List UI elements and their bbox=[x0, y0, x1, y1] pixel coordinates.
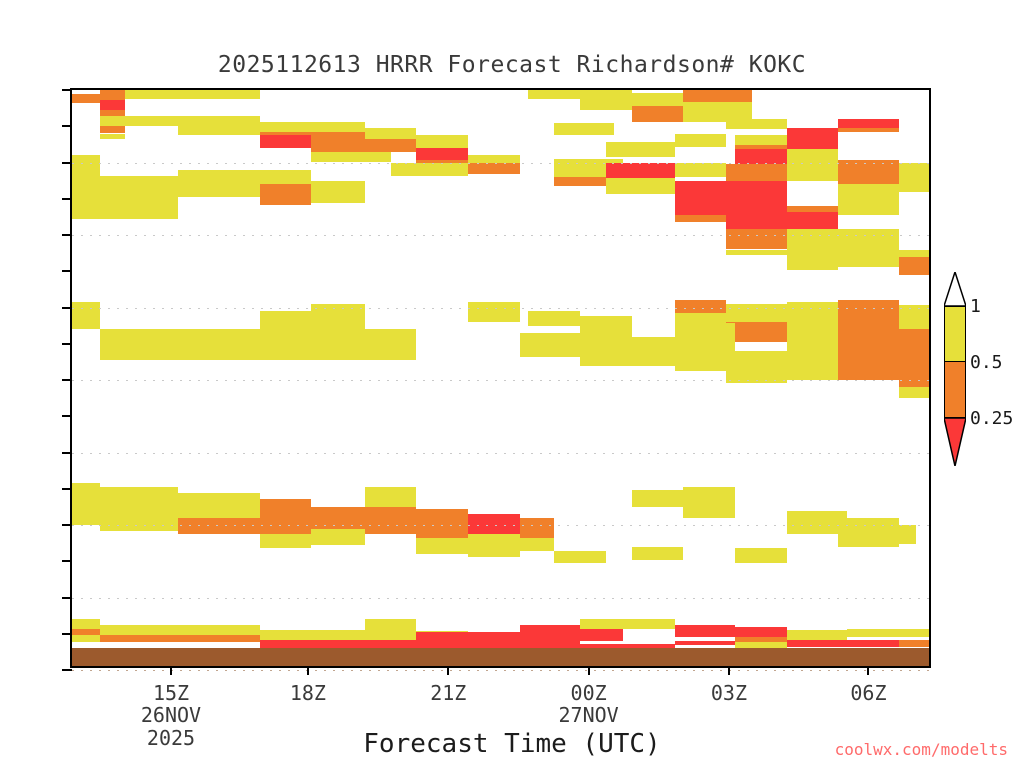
heatmap-cell bbox=[468, 155, 520, 162]
heatmap-cell bbox=[528, 90, 580, 99]
heatmap-cell bbox=[787, 128, 839, 150]
chart-page: 2025112613 HRRR Forecast Richardson# KOK… bbox=[0, 0, 1024, 768]
heatmap-cell bbox=[468, 302, 520, 322]
heatmap-cell bbox=[100, 635, 259, 642]
heatmap-cell bbox=[726, 322, 786, 342]
heatmap-cell bbox=[606, 163, 675, 179]
x-tick-time: 06Z bbox=[788, 682, 948, 704]
colorbar-tick-label: 1 bbox=[970, 296, 981, 317]
heatmap-cell bbox=[735, 548, 787, 563]
heatmap-cell bbox=[520, 625, 580, 650]
heatmap-cell bbox=[899, 640, 929, 647]
heatmap-cell bbox=[675, 134, 727, 147]
heatmap-cell bbox=[72, 635, 100, 642]
heatmap-cell bbox=[580, 316, 632, 333]
plot-area: 2002503003504004505005506006507007508008… bbox=[70, 88, 931, 668]
heatmap-cell bbox=[838, 128, 898, 132]
x-tick-time: 21Z bbox=[368, 682, 528, 704]
x-axis-tick bbox=[447, 666, 449, 675]
heatmap-cell bbox=[632, 547, 684, 560]
y-axis-tick bbox=[62, 560, 72, 562]
heatmap-cell bbox=[416, 148, 468, 160]
heatmap-cell bbox=[260, 534, 312, 549]
x-axis-tick bbox=[728, 666, 730, 675]
heatmap-cell bbox=[675, 351, 787, 371]
heatmap-cell bbox=[72, 302, 100, 330]
heatmap-cell bbox=[787, 302, 839, 321]
heatmap-cell bbox=[100, 197, 177, 219]
heatmap-cell bbox=[416, 509, 468, 538]
heatmap-cell bbox=[365, 619, 417, 631]
gridline bbox=[72, 308, 929, 309]
heatmap-cell bbox=[72, 155, 100, 219]
heatmap-cell bbox=[632, 93, 684, 102]
y-axis-tick bbox=[62, 524, 72, 526]
y-axis-tick bbox=[62, 234, 72, 236]
heatmap-cell bbox=[100, 90, 124, 100]
heatmap-cell bbox=[787, 630, 847, 639]
x-axis-tick bbox=[588, 666, 590, 675]
heatmap-cell bbox=[726, 250, 786, 256]
gridline bbox=[72, 453, 929, 454]
heatmap-cell bbox=[787, 165, 839, 181]
chart-title: 2025112613 HRRR Forecast Richardson# KOK… bbox=[0, 52, 1024, 78]
heatmap-cell bbox=[735, 627, 787, 638]
colorbar-arrow-bottom bbox=[944, 418, 966, 466]
heatmap-cell bbox=[787, 255, 839, 270]
heatmap-cell bbox=[580, 629, 623, 641]
gridline bbox=[72, 163, 929, 164]
y-axis-tick bbox=[62, 379, 72, 381]
heatmap-cell bbox=[580, 337, 675, 366]
colorbar-legend: 10.50.25 bbox=[944, 306, 966, 474]
y-axis-tick bbox=[62, 343, 72, 345]
heatmap-cell bbox=[787, 229, 899, 255]
heatmap-cell bbox=[416, 538, 468, 554]
gridline bbox=[72, 598, 929, 599]
heatmap-cell bbox=[726, 215, 786, 230]
heatmap-cell bbox=[100, 126, 124, 134]
heatmap-cell bbox=[580, 90, 632, 110]
heatmap-cell bbox=[391, 163, 468, 176]
heatmap-cell bbox=[675, 215, 727, 222]
heatmap-cell bbox=[520, 518, 554, 538]
y-axis-tick bbox=[62, 125, 72, 127]
heatmap-cell bbox=[260, 311, 365, 331]
heatmap-cell bbox=[683, 90, 752, 102]
heatmap-cell bbox=[606, 142, 675, 157]
heatmap-cell bbox=[735, 135, 787, 145]
y-axis-tick bbox=[62, 198, 72, 200]
heatmap-cell bbox=[72, 94, 100, 103]
heatmap-cell bbox=[554, 551, 606, 563]
heatmap-cell bbox=[260, 630, 365, 639]
heatmap-cell bbox=[311, 181, 364, 203]
heatmap-cell bbox=[899, 163, 929, 192]
heatmap-cell bbox=[726, 164, 786, 181]
heatmap-cell bbox=[311, 529, 364, 546]
heatmap-cell bbox=[899, 357, 929, 387]
colorbar-arrow-top bbox=[944, 272, 966, 306]
heatmap-cell bbox=[838, 255, 898, 267]
heatmap-cell bbox=[178, 123, 260, 135]
heatmap-cell bbox=[260, 122, 365, 132]
heatmap-cell bbox=[554, 123, 614, 135]
heatmap-cell bbox=[520, 538, 554, 551]
heatmap-cell bbox=[787, 212, 839, 229]
heatmap-cell bbox=[787, 511, 847, 534]
x-axis-tick bbox=[867, 666, 869, 675]
y-axis-tick bbox=[62, 162, 72, 164]
colorbar-band bbox=[944, 362, 966, 418]
heatmap-cell bbox=[365, 128, 417, 140]
gridline bbox=[72, 380, 929, 381]
heatmap-cell bbox=[847, 629, 929, 637]
heatmap-cell bbox=[468, 514, 520, 534]
watermark: coolwx.com/modelts bbox=[835, 740, 1008, 759]
y-axis-tick bbox=[62, 452, 72, 454]
heatmap-cell bbox=[528, 311, 580, 326]
ground-fill bbox=[72, 648, 929, 666]
heatmap-cell bbox=[899, 329, 929, 357]
y-axis-tick bbox=[62, 270, 72, 272]
heatmap-cell bbox=[899, 250, 929, 257]
heatmap-cell bbox=[100, 625, 259, 635]
x-axis-tick bbox=[307, 666, 309, 675]
heatmap-cell bbox=[100, 134, 124, 140]
y-axis-tick bbox=[62, 307, 72, 309]
x-tick-time: 18Z bbox=[228, 682, 388, 704]
y-axis-tick bbox=[62, 415, 72, 417]
x-axis-tick-label: 06Z bbox=[788, 682, 948, 704]
heatmap-cell bbox=[580, 619, 632, 629]
heatmap-cell bbox=[838, 119, 898, 128]
heatmap-cell bbox=[72, 483, 100, 525]
heatmap-cell bbox=[260, 499, 312, 534]
heatmap-cell bbox=[365, 507, 417, 534]
x-axis-tick-label: 00Z27NOV bbox=[509, 682, 669, 727]
x-axis-tick-label: 03Z bbox=[649, 682, 809, 704]
heatmap-cell bbox=[847, 525, 916, 544]
heatmap-cell bbox=[899, 257, 929, 275]
heatmap-cell bbox=[632, 619, 675, 629]
heatmap-cell bbox=[787, 321, 839, 346]
heatmap-cell bbox=[838, 300, 898, 307]
gridline bbox=[72, 235, 929, 236]
heatmap-cell bbox=[100, 100, 124, 110]
x-tick-date: 26NOV bbox=[91, 704, 251, 726]
heatmap-cell bbox=[899, 387, 929, 398]
heatmap-cell bbox=[311, 304, 364, 313]
heatmap-cell bbox=[632, 490, 684, 507]
heatmap-cell bbox=[675, 163, 727, 178]
y-axis-tick bbox=[62, 633, 72, 635]
heatmap-cell bbox=[787, 640, 899, 647]
heatmap-cell bbox=[675, 181, 787, 215]
heatmap-cell bbox=[632, 106, 684, 122]
heatmap-cell bbox=[675, 641, 735, 645]
x-axis-tick-label: 21Z bbox=[368, 682, 528, 704]
gridline bbox=[72, 525, 929, 526]
colorbar-band bbox=[944, 306, 966, 362]
heatmap-cell bbox=[838, 308, 898, 353]
y-axis-tick bbox=[62, 89, 72, 91]
heatmap-cell bbox=[260, 184, 312, 204]
gridline bbox=[72, 670, 929, 671]
heatmap-cell bbox=[72, 619, 100, 629]
heatmap-cell bbox=[726, 371, 786, 383]
heatmap-cell bbox=[468, 545, 520, 557]
heatmap-cell bbox=[125, 90, 260, 99]
heatmap-cell bbox=[416, 135, 468, 148]
colorbar-tick-label: 0.25 bbox=[970, 408, 1013, 429]
heatmap-cell bbox=[675, 313, 727, 323]
heatmap-cell bbox=[606, 178, 675, 194]
x-tick-time: 00Z bbox=[509, 682, 669, 704]
y-axis-tick bbox=[62, 488, 72, 490]
heatmap-cell bbox=[365, 487, 417, 507]
heatmap-cell bbox=[260, 135, 312, 148]
heatmap-cell bbox=[787, 345, 839, 367]
heatmap-cell bbox=[468, 534, 520, 546]
y-axis-tick bbox=[62, 669, 72, 671]
heatmap-cells bbox=[72, 90, 929, 666]
heatmap-cell bbox=[726, 229, 786, 249]
heatmap-cell bbox=[554, 177, 606, 186]
heatmap-cell bbox=[675, 625, 735, 637]
heatmap-cell bbox=[675, 323, 735, 351]
heatmap-cell bbox=[468, 163, 520, 175]
heatmap-cell bbox=[683, 487, 735, 517]
heatmap-cell bbox=[838, 184, 898, 214]
x-axis-tick-label: 18Z bbox=[228, 682, 388, 704]
heatmap-cell bbox=[726, 119, 786, 129]
heatmap-cell bbox=[838, 352, 898, 380]
colorbar-tick-label: 0.5 bbox=[970, 352, 1003, 373]
x-tick-time: 03Z bbox=[649, 682, 809, 704]
x-axis-tick bbox=[170, 666, 172, 675]
heatmap-cell bbox=[178, 493, 260, 518]
heatmap-cell bbox=[787, 367, 839, 380]
heatmap-cell bbox=[311, 152, 390, 162]
heatmap-cell bbox=[178, 170, 311, 185]
heatmap-cell bbox=[100, 329, 416, 359]
y-axis-tick bbox=[62, 597, 72, 599]
x-tick-date: 27NOV bbox=[509, 704, 669, 726]
